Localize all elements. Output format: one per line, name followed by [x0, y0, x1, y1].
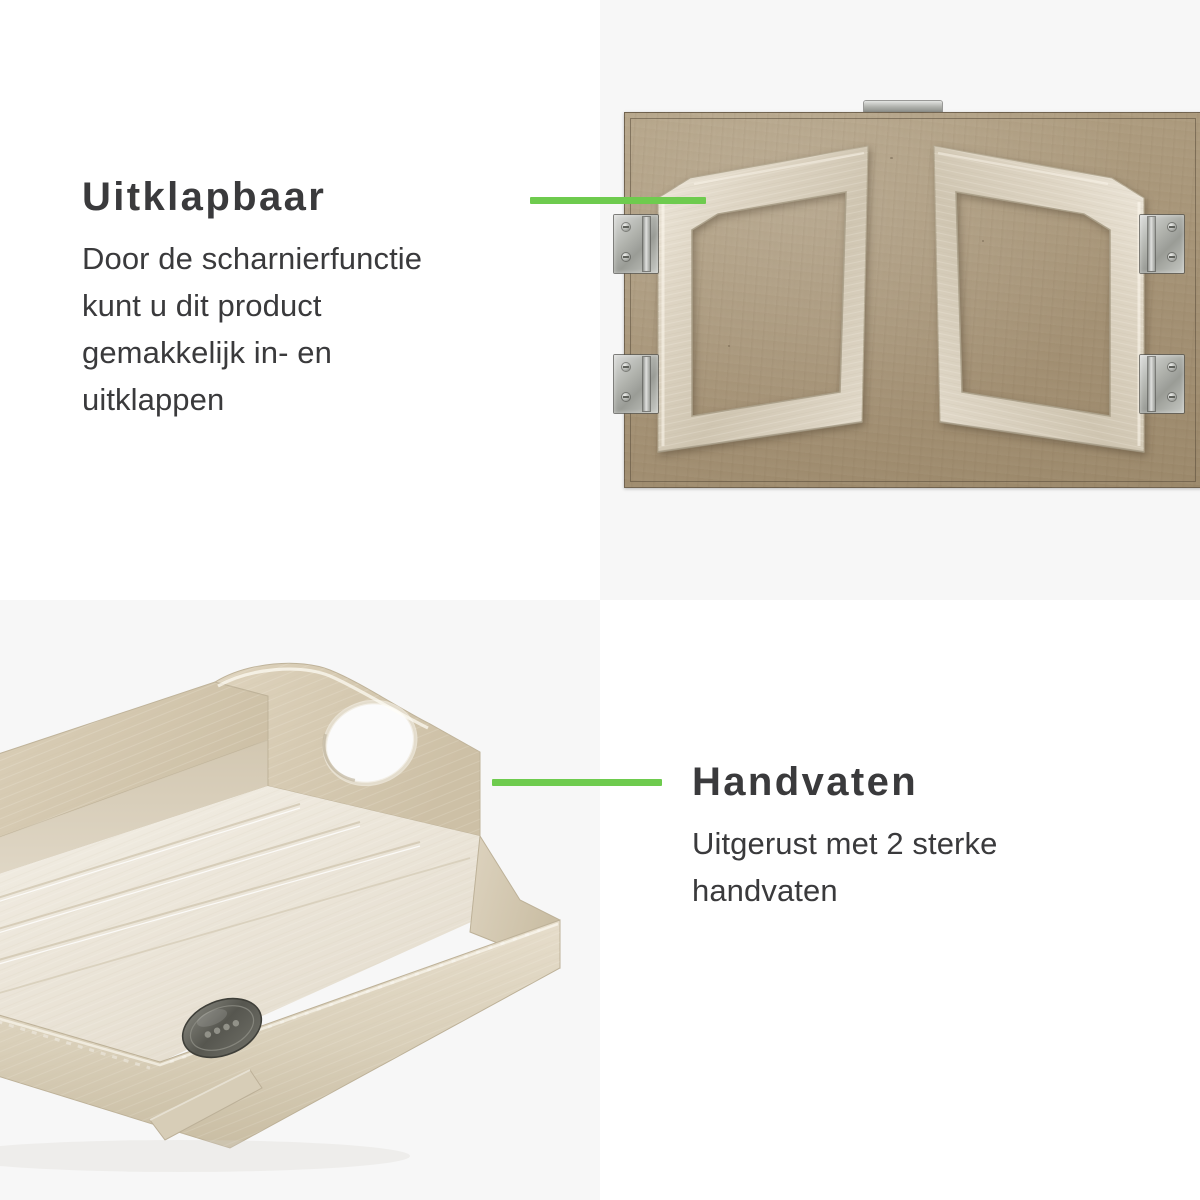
hinge-left-upper: [614, 215, 658, 273]
hinge-knuckle: [1148, 217, 1155, 271]
feature-title-handvaten: Handvaten: [692, 760, 1092, 804]
hinge-screw: [1168, 393, 1176, 401]
feature-block-uitklapbaar: Uitklapbaar Door de scharnierfunctie kun…: [82, 175, 482, 423]
feature-block-handvaten: Handvaten Uitgerust met 2 sterke handvat…: [692, 760, 1092, 914]
hinge-knuckle: [643, 357, 650, 411]
folded-leg-frame-left: [640, 140, 880, 460]
feature-description-handvaten: Uitgerust met 2 sterke handvaten: [692, 820, 1092, 914]
hinge-screw: [1168, 223, 1176, 231]
hinge-right-lower: [1140, 355, 1184, 413]
connector-line-bottom: [492, 779, 662, 786]
connector-line-top: [530, 197, 706, 204]
feature-title-uitklapbaar: Uitklapbaar: [82, 175, 482, 219]
hinge-left-lower: [614, 355, 658, 413]
hinge-screw: [622, 253, 630, 261]
feature-description-uitklapbaar: Door de scharnierfunctie kunt u dit prod…: [82, 235, 482, 423]
hinge-screw: [622, 363, 630, 371]
product-photo-folding-mechanism: [600, 0, 1200, 600]
hinge-screw: [1168, 253, 1176, 261]
infographic-canvas: ●●●● Uitklapbaar Door de scharnierfuncti…: [0, 0, 1200, 1200]
product-photo-tray-handles: ●●●●: [0, 600, 600, 1200]
hinge-knuckle: [643, 217, 650, 271]
hinge-right-upper: [1140, 215, 1184, 273]
top-metal-tab: [864, 101, 942, 112]
hinge-screw: [622, 393, 630, 401]
hinge-knuckle: [1148, 357, 1155, 411]
folded-leg-frame-right: [922, 140, 1162, 460]
hinge-screw: [622, 223, 630, 231]
hinge-screw: [1168, 363, 1176, 371]
